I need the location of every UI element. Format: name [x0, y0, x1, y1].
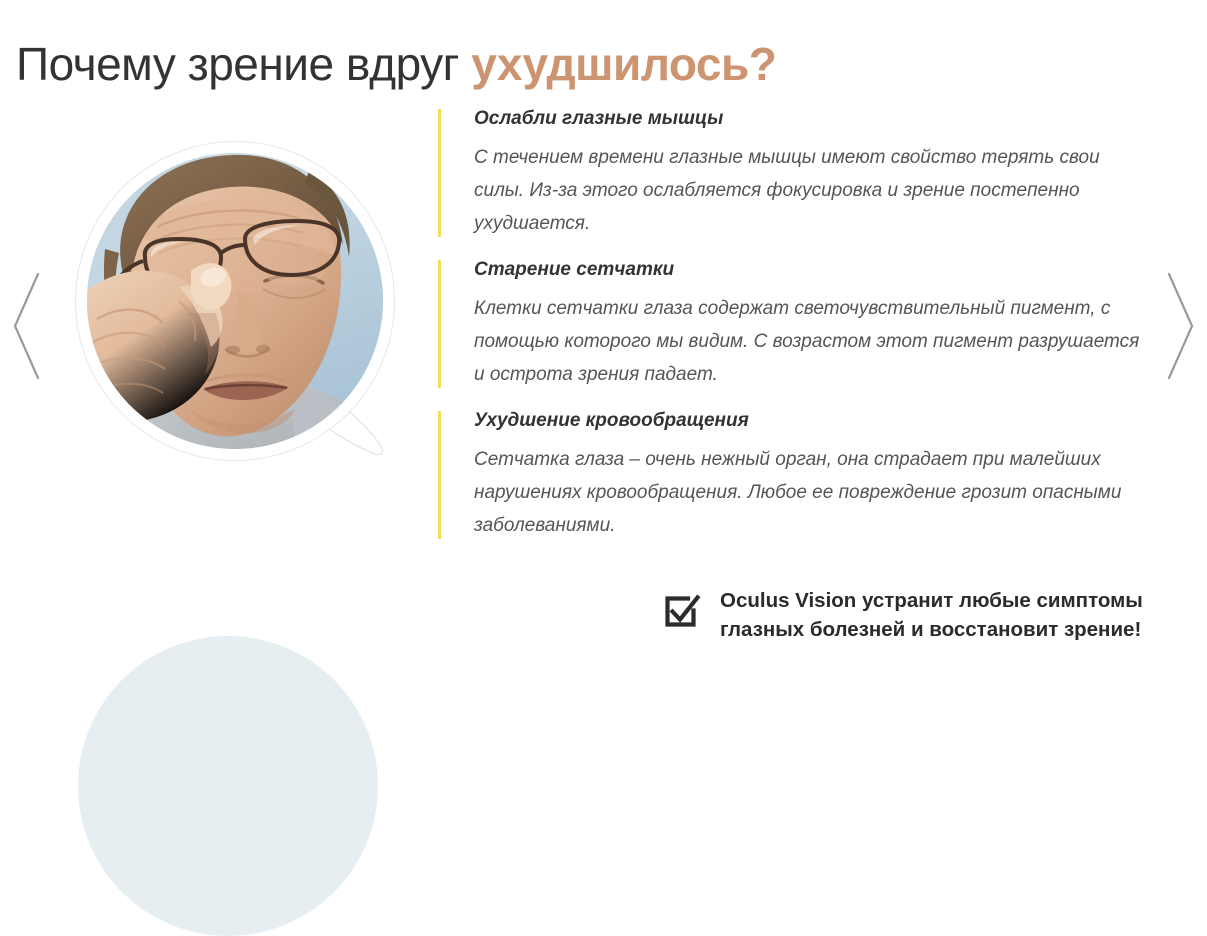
- carousel-next-button[interactable]: [1155, 272, 1201, 380]
- product-callout-text: Oculus Vision устранит любые симптомы гл…: [720, 586, 1143, 644]
- reason-body: Сетчатка глаза – очень нежный орган, она…: [474, 443, 1154, 542]
- reasons-list: Ослабли глазные мышцы С течением времени…: [438, 106, 1154, 542]
- chevron-left-icon[interactable]: [6, 272, 52, 380]
- reason-title: Ухудшение кровообращения: [474, 408, 1154, 434]
- carousel-prev-button[interactable]: [6, 272, 52, 380]
- accent-bar: [438, 260, 441, 388]
- chevron-right-icon[interactable]: [1155, 272, 1201, 380]
- slide-photo-bubble: [66, 136, 414, 466]
- accent-bar: [438, 411, 441, 539]
- reason-body: Клетки сетчатки глаза содержат светочувс…: [474, 292, 1154, 391]
- reason-body: С течением времени глазные мышцы имеют с…: [474, 141, 1154, 240]
- checkbox-checked-icon: [662, 591, 702, 631]
- product-callout: Oculus Vision устранит любые симптомы гл…: [662, 586, 1143, 644]
- page-title-plain: Почему зрение вдруг: [16, 38, 471, 90]
- reason-item: Ослабли глазные мышцы С течением времени…: [438, 106, 1154, 240]
- page-title: Почему зрение вдруг ухудшилось?: [16, 29, 776, 99]
- reason-item: Старение сетчатки Клетки сетчатки глаза …: [438, 257, 1154, 391]
- next-slide-peek: [78, 636, 378, 936]
- reason-item: Ухудшение кровообращения Сетчатка глаза …: [438, 408, 1154, 542]
- reason-title: Ослабли глазные мышцы: [474, 106, 1154, 132]
- reason-title: Старение сетчатки: [474, 257, 1154, 283]
- accent-bar: [438, 109, 441, 237]
- page-title-accent: ухудшилось?: [471, 38, 776, 90]
- photo-portrait: [87, 153, 383, 449]
